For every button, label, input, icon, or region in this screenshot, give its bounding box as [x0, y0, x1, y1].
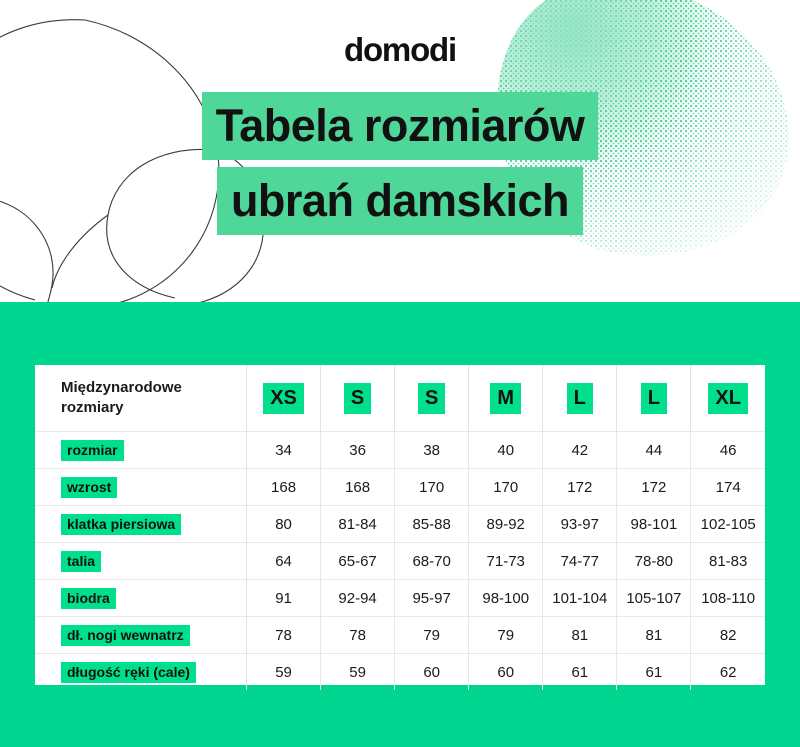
table-cell: 42 — [543, 432, 617, 469]
table-cell: 168 — [247, 469, 321, 506]
table-cell: 98-101 — [617, 506, 691, 543]
table-row: długość ręki (cale) 59 59 60 60 61 61 62 — [35, 654, 765, 691]
table-cell: 34 — [247, 432, 321, 469]
size-chip: S — [344, 383, 371, 414]
size-table-body: Międzynarodowe rozmiary XS S S M — [35, 365, 765, 690]
size-chip: S — [418, 383, 445, 414]
table-cell: 46 — [691, 432, 765, 469]
table-row: rozmiar 34 36 38 40 42 44 46 — [35, 432, 765, 469]
table-cell: 61 — [617, 654, 691, 691]
table-cell: 38 — [395, 432, 469, 469]
table-cell: 65-67 — [321, 543, 395, 580]
brand-logo: domodi — [0, 31, 800, 69]
table-cell: 102-105 — [691, 506, 765, 543]
size-chart-page: domodi Tabela rozmiarów ubrań damskich M… — [0, 0, 800, 747]
table-cell: 108-110 — [691, 580, 765, 617]
row-label: dł. nogi wewnatrz — [61, 625, 190, 646]
table-cell: 79 — [395, 617, 469, 654]
table-cell: 40 — [469, 432, 543, 469]
size-header-3: M — [469, 365, 543, 432]
table-cell: 79 — [469, 617, 543, 654]
size-header-2: S — [395, 365, 469, 432]
row-label-cell: klatka piersiowa — [35, 506, 247, 543]
table-cell: 101-104 — [543, 580, 617, 617]
table-cell: 62 — [691, 654, 765, 691]
row-label-cell: wzrost — [35, 469, 247, 506]
size-header-6: XL — [691, 365, 765, 432]
page-title-line-1: Tabela rozmiarów — [202, 92, 599, 160]
table-cell: 168 — [321, 469, 395, 506]
row-label-cell: biodra — [35, 580, 247, 617]
size-header-5: L — [617, 365, 691, 432]
table-cell: 44 — [617, 432, 691, 469]
size-chip: XL — [708, 383, 748, 414]
table-cell: 93-97 — [543, 506, 617, 543]
table-cell: 170 — [469, 469, 543, 506]
table-cell: 82 — [691, 617, 765, 654]
row-label: biodra — [61, 588, 116, 609]
size-chip: XS — [263, 383, 304, 414]
row-label: talia — [61, 551, 101, 572]
size-header-0: XS — [247, 365, 321, 432]
table-cell: 81 — [617, 617, 691, 654]
header-label-text: Międzynarodowe rozmiary — [61, 378, 246, 419]
table-cell: 92-94 — [321, 580, 395, 617]
table-cell: 81-83 — [691, 543, 765, 580]
table-cell: 78-80 — [617, 543, 691, 580]
table-cell: 81-84 — [321, 506, 395, 543]
page-title: Tabela rozmiarów ubrań damskich — [0, 92, 800, 235]
size-chip: L — [641, 383, 667, 414]
size-chip: L — [567, 383, 593, 414]
row-label: długość ręki (cale) — [61, 662, 196, 683]
table-cell: 105-107 — [617, 580, 691, 617]
table-cell: 172 — [543, 469, 617, 506]
table-cell: 68-70 — [395, 543, 469, 580]
table-row: wzrost 168 168 170 170 172 172 174 — [35, 469, 765, 506]
table-cell: 174 — [691, 469, 765, 506]
size-header-1: S — [321, 365, 395, 432]
row-label: rozmiar — [61, 440, 124, 461]
row-label: klatka piersiowa — [61, 514, 181, 535]
table-row: talia 64 65-67 68-70 71-73 74-77 78-80 8… — [35, 543, 765, 580]
table-cell: 78 — [321, 617, 395, 654]
table-cell: 170 — [395, 469, 469, 506]
table-cell: 60 — [395, 654, 469, 691]
row-label-cell: talia — [35, 543, 247, 580]
size-table-card: Międzynarodowe rozmiary XS S S M — [35, 365, 765, 685]
size-table: Międzynarodowe rozmiary XS S S M — [35, 365, 765, 690]
row-label-cell: długość ręki (cale) — [35, 654, 247, 691]
table-cell: 95-97 — [395, 580, 469, 617]
header-label-cell: Międzynarodowe rozmiary — [35, 365, 247, 432]
page-title-line-2: ubrań damskich — [217, 167, 583, 235]
table-row: dł. nogi wewnatrz 78 78 79 79 81 81 82 — [35, 617, 765, 654]
table-cell: 36 — [321, 432, 395, 469]
table-cell: 78 — [247, 617, 321, 654]
size-header-4: L — [543, 365, 617, 432]
table-cell: 71-73 — [469, 543, 543, 580]
table-cell: 89-92 — [469, 506, 543, 543]
table-cell: 59 — [321, 654, 395, 691]
table-cell: 64 — [247, 543, 321, 580]
table-cell: 74-77 — [543, 543, 617, 580]
row-label: wzrost — [61, 477, 117, 498]
row-label-cell: dł. nogi wewnatrz — [35, 617, 247, 654]
table-cell: 60 — [469, 654, 543, 691]
table-cell: 59 — [247, 654, 321, 691]
table-cell: 98-100 — [469, 580, 543, 617]
table-cell: 81 — [543, 617, 617, 654]
table-cell: 61 — [543, 654, 617, 691]
table-cell: 80 — [247, 506, 321, 543]
row-label-cell: rozmiar — [35, 432, 247, 469]
table-cell: 91 — [247, 580, 321, 617]
size-chip: M — [490, 383, 521, 414]
table-row: biodra 91 92-94 95-97 98-100 101-104 105… — [35, 580, 765, 617]
table-header-row: Międzynarodowe rozmiary XS S S M — [35, 365, 765, 432]
table-cell: 85-88 — [395, 506, 469, 543]
table-row: klatka piersiowa 80 81-84 85-88 89-92 93… — [35, 506, 765, 543]
table-cell: 172 — [617, 469, 691, 506]
